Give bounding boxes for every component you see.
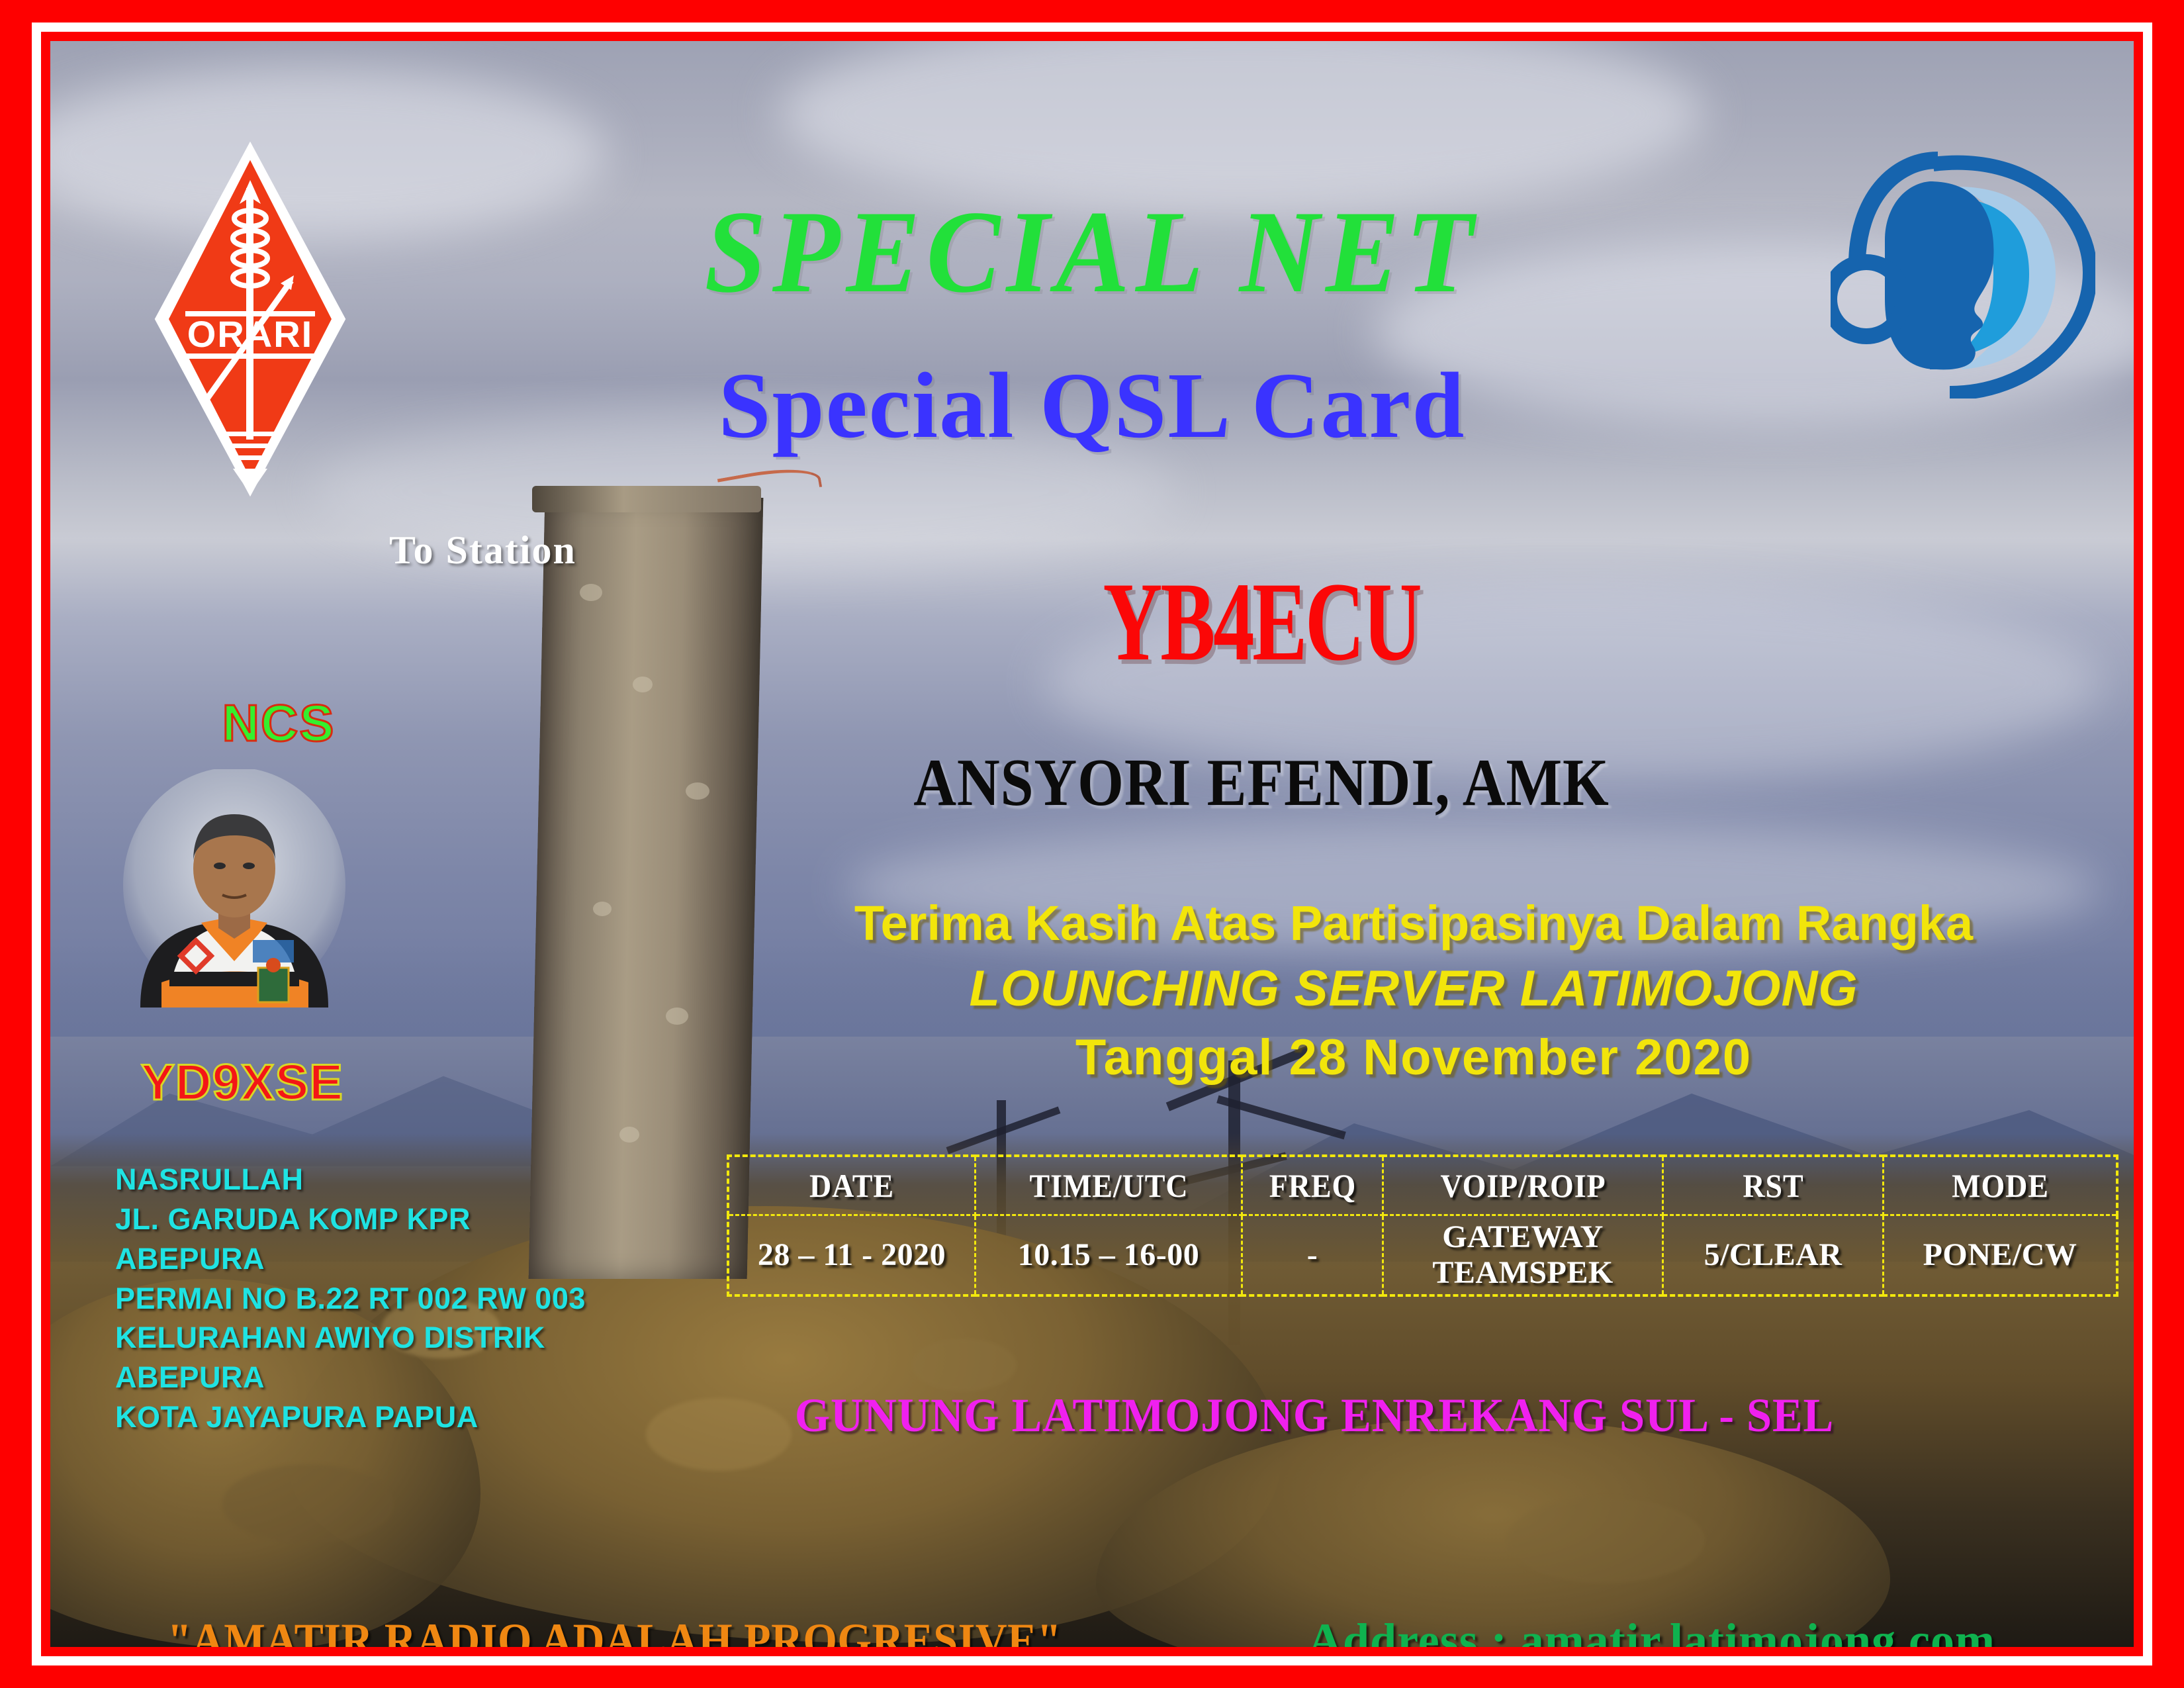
cell-voip-line2: TEAMSPEK: [1384, 1255, 1662, 1291]
address-line: PERMAI NO B.22 RT 002 RW 003: [115, 1279, 631, 1319]
motto-text: "AMATIR RADIO ADALAH PROGRESIVE": [167, 1613, 1062, 1647]
table-row: 28 – 11 - 2020 10.15 – 16-00 - GATEWAY T…: [728, 1215, 2117, 1296]
web-address: Address : amatir.latimojong.com: [1308, 1613, 1995, 1647]
column-header-time: TIME/UTC: [986, 1156, 1232, 1215]
operator-name: ANSYORI EFENDI, AMK: [854, 744, 1669, 821]
cell-mode: PONE/CW: [1884, 1215, 2118, 1296]
table-header-row: DATE TIME/UTC FREQ VOIP/ROIP RST MODE: [728, 1156, 2117, 1215]
rock-texture: [1506, 1497, 1705, 1583]
event-date-line: Tanggal 28 November 2020: [811, 1029, 2016, 1086]
pillar-texture: [593, 902, 612, 916]
pillar-texture: [619, 1127, 639, 1143]
pillar-texture: [686, 782, 709, 800]
cell-time: 10.15 – 16-00: [976, 1215, 1242, 1296]
address-line: KOTA JAYAPURA PAPUA: [115, 1397, 631, 1437]
address-line: NASRULLAH: [115, 1160, 631, 1199]
cell-rst: 5/CLEAR: [1663, 1215, 1884, 1296]
address-line: KELURAHAN AWIYO DISTRIK: [115, 1318, 631, 1358]
card-background-photo: ORARI: [50, 41, 2134, 1647]
ncs-label: NCS: [193, 693, 365, 753]
page-subtitle: Special QSL Card: [50, 351, 2134, 459]
address-line: ABEPURA: [115, 1358, 631, 1397]
qso-log-table: DATE TIME/UTC FREQ VOIP/ROIP RST MODE 28…: [727, 1154, 2118, 1297]
column-header-rst: RST: [1672, 1156, 1874, 1215]
pillar-texture: [633, 677, 653, 692]
column-header-mode: MODE: [1893, 1156, 2108, 1215]
avatar: [122, 769, 347, 1008]
column-header-voip: VOIP/ROIP: [1394, 1156, 1651, 1215]
rock-texture: [222, 1464, 394, 1544]
cell-voip-line1: GATEWAY: [1384, 1219, 1662, 1255]
column-header-freq: FREQ: [1248, 1156, 1377, 1215]
qsl-card-frame: ORARI: [0, 0, 2184, 1688]
address-line: ABEPURA: [115, 1239, 631, 1279]
cell-freq: -: [1242, 1215, 1383, 1296]
address-line: JL. GARUDA KOMP KPR: [115, 1199, 631, 1239]
thanks-line: Terima Kasih Atas Partisipasinya Dalam R…: [811, 895, 2016, 951]
ncs-callsign: YD9XSE: [130, 1054, 355, 1111]
address-block: NASRULLAH JL. GARUDA KOMP KPR ABEPURA PE…: [115, 1160, 631, 1437]
rock-texture: [911, 1338, 1017, 1391]
page-title: SPECIAL NET: [113, 183, 2071, 320]
cell-voip: GATEWAY TEAMSPEK: [1383, 1215, 1663, 1296]
column-header-date: DATE: [738, 1156, 966, 1215]
event-line: LOUNCHING SERVER LATIMOJONG: [811, 960, 2016, 1017]
pillar-texture: [666, 1008, 688, 1025]
station-callsign: YB4ECU: [909, 557, 1614, 686]
location-line: GUNUNG LATIMOJONG ENREKANG SUL - SEL: [717, 1388, 1912, 1443]
to-station-label: To Station: [389, 528, 576, 573]
cell-date: 28 – 11 - 2020: [728, 1215, 976, 1296]
pillar-texture: [580, 584, 602, 601]
